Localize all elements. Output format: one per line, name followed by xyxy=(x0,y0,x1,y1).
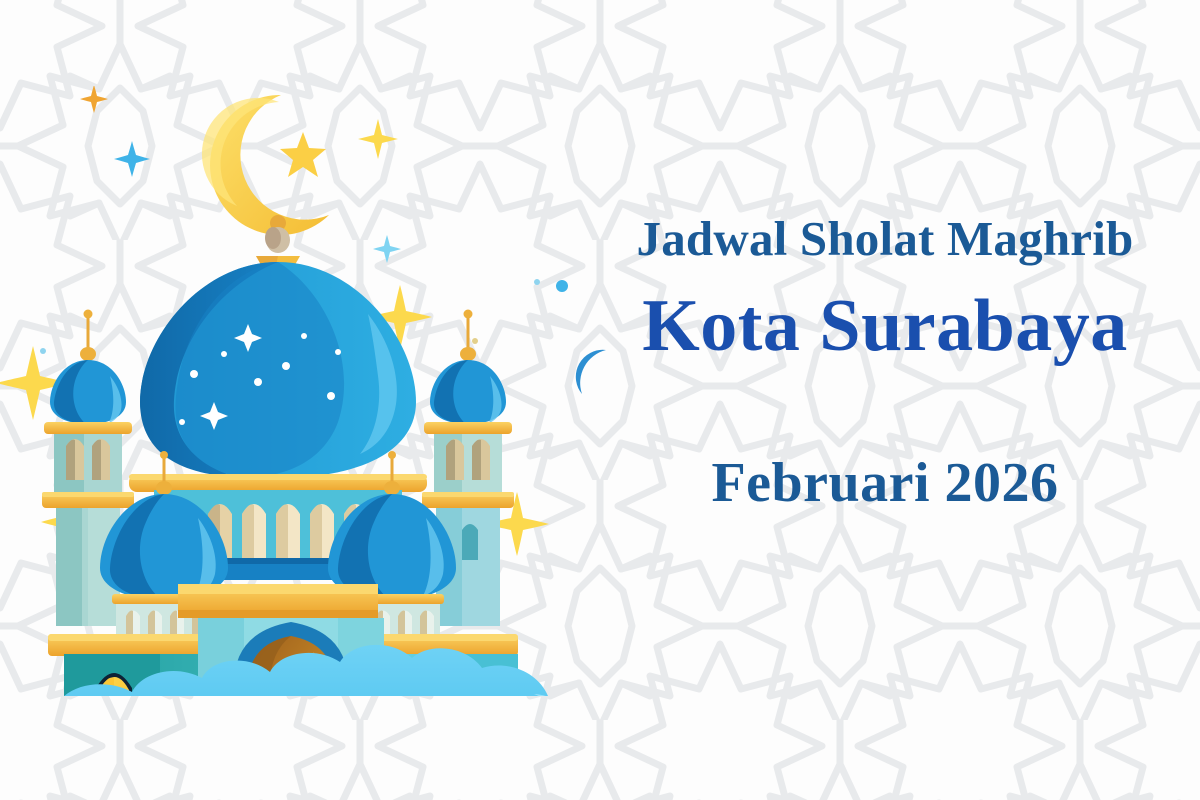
mosque-on-cloud-illustration xyxy=(0,86,606,696)
headline-line-3: Februari 2026 xyxy=(570,455,1200,511)
headline-block: Jadwal Sholat Maghrib Kota Surabaya Febr… xyxy=(570,214,1200,574)
poster-canvas: Jadwal Sholat Maghrib Kota Surabaya Febr… xyxy=(0,0,1200,800)
headline-line-2: Kota Surabaya xyxy=(570,289,1200,363)
headline-line-1: Jadwal Sholat Maghrib xyxy=(570,214,1200,263)
main-dome-base-band xyxy=(129,474,427,492)
crescent-moon-icon xyxy=(202,95,329,235)
central-lintel xyxy=(178,584,378,618)
main-dome xyxy=(140,262,416,478)
